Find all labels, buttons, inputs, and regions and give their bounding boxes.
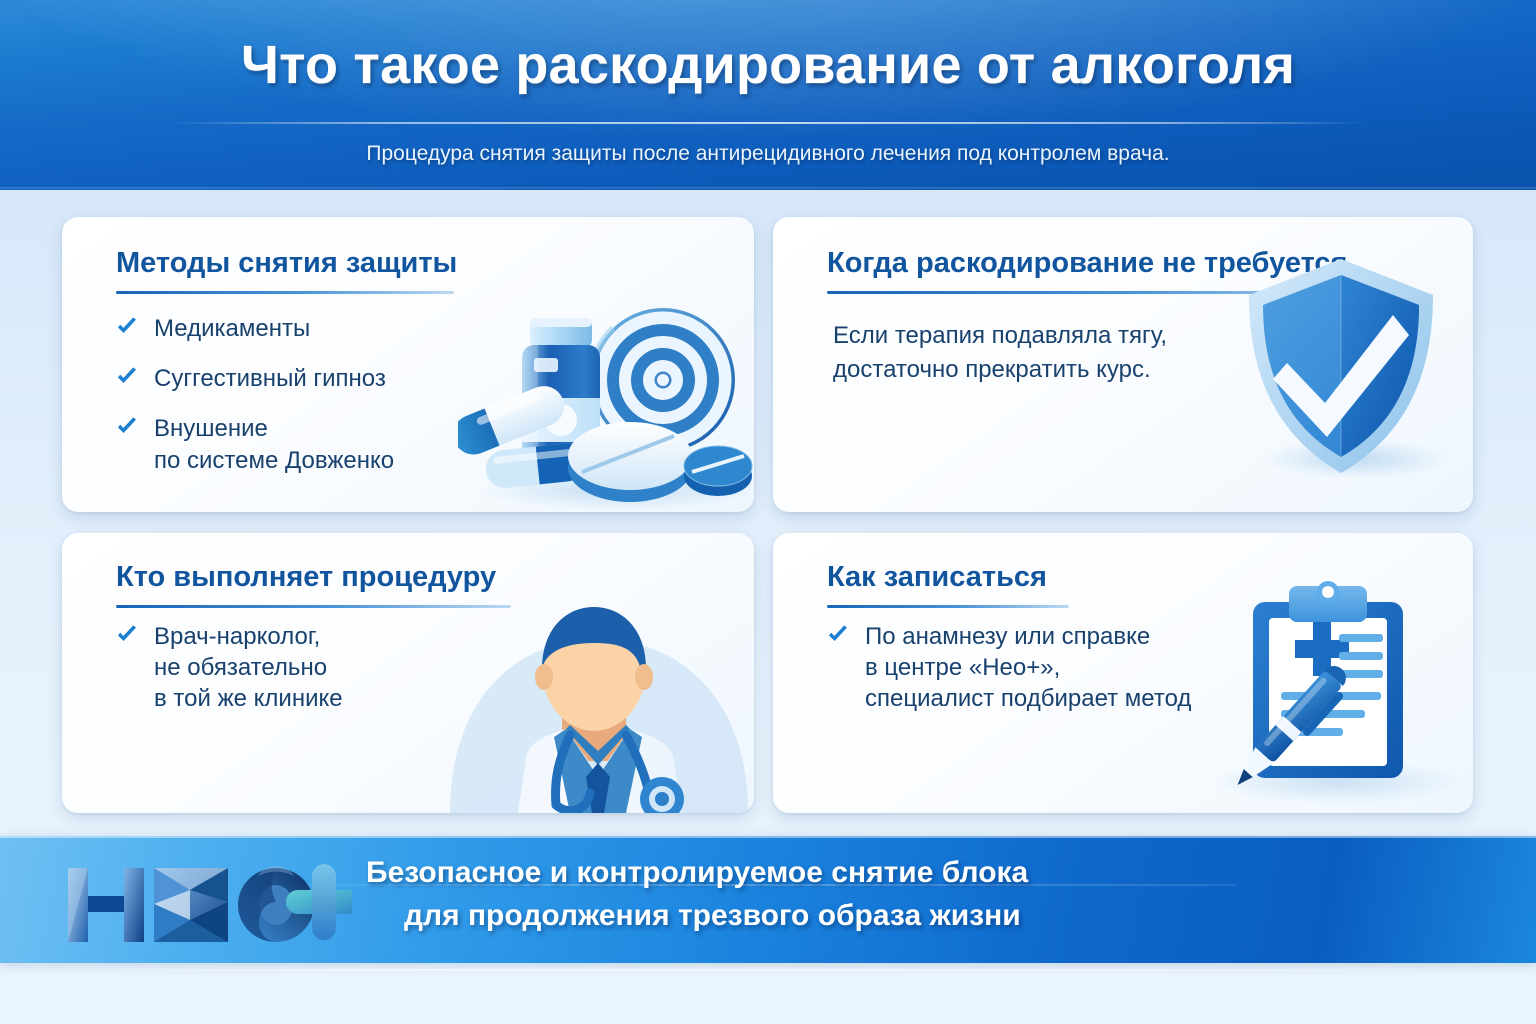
list-item-label: Медикаменты	[116, 313, 476, 344]
bullet-list: Медикаменты Суггестивный гипноз Внушение…	[116, 313, 476, 476]
card-title-underline	[827, 605, 1069, 608]
list-item-label: Внушение по системе Довженко	[116, 413, 476, 475]
shield-illustration	[1237, 251, 1457, 491]
footer-line-2: для продолжения трезвого образа жизни	[360, 895, 1506, 938]
brand-logo	[62, 854, 352, 950]
list-item-label: По анамнезу или справке в центре «Нео+»,…	[827, 621, 1227, 715]
check-icon	[116, 417, 138, 437]
check-icon	[116, 625, 138, 645]
card-how-to-book: Как записаться По анамнезу или справке в…	[773, 533, 1473, 813]
card-who-performs: Кто выполняет процедуру Врач-нарколог, н…	[62, 533, 754, 813]
card-title: Методы снятия защиты	[116, 247, 457, 280]
check-icon	[116, 367, 138, 387]
doctor-illustration	[430, 565, 754, 813]
list-item-label: Суггестивный гипноз	[116, 363, 476, 394]
footer-line-1: Безопасное и контролируемое снятие блока	[360, 852, 1506, 895]
check-icon	[827, 625, 849, 645]
title-divider	[170, 122, 1366, 124]
card-methods: Методы снятия защиты Медикаменты Суггест…	[62, 217, 754, 512]
clipboard-illustration	[1197, 574, 1467, 809]
list-item: Врач-нарколог, не обязательно в той же к…	[116, 621, 476, 715]
list-item: Суггестивный гипноз	[116, 363, 476, 394]
card-grid: Методы снятия защиты Медикаменты Суггест…	[0, 190, 1536, 835]
pills-illustration	[458, 284, 754, 512]
footer-rule-bottom	[60, 969, 1506, 971]
card-title-underline	[116, 291, 454, 294]
bullet-list: Врач-нарколог, не обязательно в той же к…	[116, 621, 476, 715]
footer-tagline: Безопасное и контролируемое снятие блока…	[360, 852, 1506, 937]
infographic-poster: Что такое раскодирование от алкоголя Про…	[0, 0, 1536, 1024]
card-when-not-needed: Когда раскодирование не требуется Если т…	[773, 217, 1473, 512]
page-subtitle: Процедура снятия защиты после антирециди…	[0, 142, 1536, 166]
page-title: Что такое раскодирование от алкоголя	[0, 34, 1536, 96]
card-title: Как записаться	[827, 561, 1047, 594]
check-icon	[116, 317, 138, 337]
paragraph-block: Если терапия подавляла тягу, достаточно …	[827, 319, 1247, 387]
card-paragraph: Если терапия подавляла тягу, достаточно …	[827, 319, 1247, 387]
footer-banner: Безопасное и контролируемое снятие блока…	[0, 836, 1536, 963]
list-item-label: Врач-нарколог, не обязательно в той же к…	[116, 621, 476, 715]
list-item: Медикаменты	[116, 313, 476, 344]
header-banner: Что такое раскодирование от алкоголя Про…	[0, 0, 1536, 190]
list-item: По анамнезу или справке в центре «Нео+»,…	[827, 621, 1227, 715]
bullet-list: По анамнезу или справке в центре «Нео+»,…	[827, 621, 1227, 715]
list-item: Внушение по системе Довженко	[116, 413, 476, 475]
